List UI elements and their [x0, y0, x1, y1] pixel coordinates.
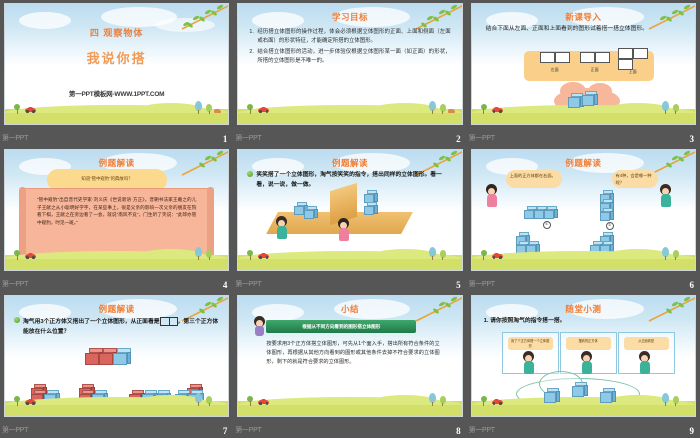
- slide-thumbnail-grid: 四 观察物体 我说你搭 第一PPT模板网-WWW.1PPT.COM 第一PPT …: [0, 0, 700, 438]
- cube-icon: [582, 91, 598, 106]
- quiz-panel-3: 从正面看是: [618, 332, 675, 374]
- tree-icon: [247, 104, 253, 113]
- dog-icon: [448, 109, 455, 113]
- teacher-avatar: [252, 316, 267, 336]
- footer-logo: 第一PPT: [469, 133, 495, 143]
- car-icon: [258, 399, 269, 405]
- tree-icon: [440, 250, 446, 260]
- slide-5[interactable]: 例题解读 笑笑搭了一个立体图形，淘气按笑笑的指令，搭出同样的立体图形。看一看，说…: [237, 149, 462, 271]
- task-text-a: 淘气用3个正方体又搭出了一个立体图形，从正: [23, 319, 142, 325]
- slide-title: 学习目标: [238, 11, 461, 23]
- story-text: “管中窥豹”出自晋代史学家·刘义庆《世说新语·方正》。晋朝书法家王羲之的儿子王献…: [37, 196, 196, 226]
- page-number: 6: [689, 280, 694, 290]
- list-item-text: 结合搭立体图形的活动，进一步体验仅根据立体图形某一面（如正面）的形状，所搭的立体…: [257, 48, 450, 65]
- car-icon: [258, 253, 269, 259]
- cube-icon: [364, 202, 378, 215]
- view-figure-left: 左面: [540, 52, 570, 74]
- footer-logo: 第一PPT: [235, 425, 261, 435]
- slide-title: 随堂小测: [472, 303, 695, 315]
- figure-2: ②: [600, 190, 620, 228]
- front-view-box: [160, 317, 178, 326]
- tree-icon: [440, 104, 446, 114]
- summary-banner-text: 根据从不同方向看到的图形搭立体图形: [266, 324, 416, 330]
- cube-icon: [304, 206, 318, 219]
- slide-title: 例题解读: [5, 303, 228, 315]
- car-icon: [492, 253, 503, 259]
- slide-4[interactable]: 例题解读 知道“管中窥豹”的典故吗？ “管中窥豹”出自晋代史学家·刘义庆《世说新…: [4, 149, 229, 271]
- slide-8[interactable]: 小结 根据从不同方向看到的图形搭立体图形 按要求用3个正方体搭立体图形，可先从1…: [237, 295, 462, 417]
- tree-icon: [440, 396, 446, 406]
- car-icon: [25, 253, 36, 259]
- list-item: 1. 经历搭立体图形的操作过程，体会必须根据立体图形的正面、上面和侧面（左面或右…: [249, 28, 450, 45]
- story-scroll: “管中窥豹”出自晋代史学家·刘义庆《世说新语·方正》。晋朝书法家王羲之的儿子王献…: [22, 188, 211, 258]
- slide-cell-8[interactable]: 小结 根据从不同方向看到的图形搭立体图形 按要求用3个正方体搭立体图形，可先从1…: [233, 292, 466, 438]
- tree-icon: [481, 250, 487, 259]
- slide-cell-5[interactable]: 例题解读 笑笑搭了一个立体图形，淘气按笑笑的指令，搭出同样的立体图形。看一看，说…: [233, 146, 466, 292]
- summary-banner: 根据从不同方向看到的图形搭立体图形: [266, 320, 416, 333]
- cube-icon: [600, 208, 614, 221]
- slide-cell-7[interactable]: 例题解读 淘气用3个正方体又搭出了一个立体图形，从正面看是，第三个正方体能放在什…: [0, 292, 233, 438]
- tree-icon: [195, 247, 202, 260]
- tree-icon: [429, 393, 436, 406]
- car-icon: [25, 399, 36, 405]
- figure-number: ②: [606, 222, 614, 230]
- cube-icon: [600, 388, 616, 403]
- footer-logo: 第一PPT: [235, 279, 261, 289]
- slide-cell-4[interactable]: 例题解读 知道“管中窥豹”的典故吗？ “管中窥豹”出自晋代史学家·刘义庆《世说新…: [0, 146, 233, 292]
- bullet-icon: [14, 317, 20, 323]
- panel-bubble: 摆着的正方体: [566, 337, 611, 350]
- list-item-number: 1.: [249, 28, 257, 45]
- task-text: 淘气用3个正方体又搭出了一个立体图形，从正面看是，第三个正方体能放在什么位置？: [23, 317, 218, 337]
- intro-text: 结合下面从左面、正面和上面看到的图形试着搭一搭立体图形。: [486, 25, 683, 35]
- quiz-panel-2: 摆着的正方体: [560, 332, 617, 374]
- car-icon: [258, 107, 269, 113]
- panel-bubble: 从正面看是: [624, 337, 669, 350]
- view-label: 正面: [580, 67, 610, 73]
- footer-logo: 第一PPT: [2, 279, 28, 289]
- footer-logo: 第一PPT: [235, 133, 261, 143]
- figure-1: ①: [524, 204, 570, 226]
- page-number: 1: [223, 134, 228, 144]
- slide-1[interactable]: 四 观察物体 我说你搭 第一PPT模板网-WWW.1PPT.COM: [4, 3, 229, 125]
- speech-bubble-left: 上面的正方体都在右面。: [506, 170, 562, 188]
- slide-2[interactable]: 学习目标 1. 经历搭立体图形的操作过程，体会必须根据立体图形的正面、上面和侧面…: [237, 3, 462, 125]
- slide-cell-2[interactable]: 学习目标 1. 经历搭立体图形的操作过程，体会必须根据立体图形的正面、上面和侧面…: [233, 0, 466, 146]
- speech-bubble-right-text: 有4种，会是哪一种呢？: [616, 173, 652, 185]
- tree-icon: [662, 101, 669, 114]
- slide-footer-3: 第一PPT 3: [467, 127, 700, 146]
- slide-cell-6[interactable]: 例题解读 上面的正方体都在右面。 有4种，会是哪一种呢？: [467, 146, 700, 292]
- slide-footer-4: 第一PPT 4: [0, 273, 233, 292]
- slide-footer-9: 第一PPT 9: [467, 419, 700, 438]
- slide-title: 小结: [238, 303, 461, 315]
- car-icon: [492, 399, 503, 405]
- task-text-b: 面看是: [142, 319, 159, 325]
- tree-icon: [481, 104, 487, 113]
- slide-footer-2: 第一PPT 2: [233, 127, 466, 146]
- slide-9[interactable]: 随堂小测 1. 请你按照淘气的指令搭一搭。 用了个正方体搭一个立体图形 摆着的正…: [471, 295, 696, 417]
- tree-icon: [206, 104, 212, 114]
- page-number: 3: [689, 134, 694, 144]
- template-url: 第一PPT模板网-WWW.1PPT.COM: [5, 88, 228, 98]
- list-item-number: 2.: [249, 48, 257, 65]
- figure-label: ①: [524, 221, 570, 229]
- page-number: 8: [456, 426, 461, 436]
- list-item-text: 经历搭立体图形的操作过程，体会必须根据立体图形的正面、上面和侧面（左面或右面）的…: [257, 28, 450, 45]
- page-number: 4: [223, 280, 228, 290]
- footer-logo: 第一PPT: [2, 425, 28, 435]
- tree-icon: [14, 250, 20, 259]
- quiz-text: 1. 请你按照淘气的指令搭一搭。: [484, 317, 685, 327]
- view-figure-front: 正面: [580, 52, 610, 74]
- tree-icon: [247, 396, 253, 405]
- tree-icon: [247, 250, 253, 259]
- tree-icon: [673, 250, 679, 260]
- objectives-list: 1. 经历搭立体图形的操作过程，体会必须根据立体图形的正面、上面和侧面（左面或右…: [249, 28, 450, 68]
- views-panel: 左面 正面 上面: [524, 51, 654, 81]
- list-item: 2. 结合搭立体图形的活动，进一步体验仅根据立体图形某一面（如正面）的形状，所搭…: [249, 48, 450, 65]
- scroll-edge-left: [19, 187, 26, 259]
- slide-footer-5: 第一PPT 5: [233, 273, 466, 292]
- chapter-title: 四 观察物体: [5, 26, 228, 39]
- slide-title: 例题解读: [472, 157, 695, 169]
- cube-icon: [572, 382, 588, 397]
- tree-icon: [481, 396, 487, 405]
- slide-title: 例题解读: [5, 157, 228, 169]
- tree-icon: [14, 104, 20, 113]
- dog-icon: [214, 109, 221, 113]
- slide-title: 我说你搭: [5, 48, 228, 67]
- tree-icon: [673, 396, 679, 406]
- page-number: 5: [456, 280, 461, 290]
- footer-logo: 第一PPT: [469, 425, 495, 435]
- question-bubble-text: 知道“管中窥豹”的典故吗？: [47, 176, 167, 182]
- slide-cell-9[interactable]: 随堂小测 1. 请你按照淘气的指令搭一搭。 用了个正方体搭一个立体图形 摆着的正…: [467, 292, 700, 438]
- panel-bubble: 用了个正方体搭一个立体图形: [508, 337, 553, 350]
- tree-icon: [429, 247, 436, 260]
- summary-body: 按要求用3个正方体搭立体图形，可先从1个面入手，搭出所有符合条件的立体图形，再根…: [266, 340, 439, 366]
- cube-icon: [544, 388, 560, 403]
- tree-icon: [195, 101, 202, 114]
- footer-logo: 第一PPT: [469, 279, 495, 289]
- view-label: 上面: [618, 69, 648, 75]
- tree-icon: [14, 396, 20, 405]
- slide-footer-6: 第一PPT 6: [467, 273, 700, 292]
- slide-3[interactable]: 新课导入 结合下面从左面、正面和上面看到的图形试着搭一搭立体图形。 左面 正面: [471, 3, 696, 125]
- tree-icon: [662, 393, 669, 406]
- page-number: 7: [223, 426, 228, 436]
- footer-logo: 第一PPT: [2, 133, 28, 143]
- speech-bubble-left-text: 上面的正方体都在右面。: [510, 173, 556, 178]
- view-label: 左面: [540, 67, 570, 73]
- cube-icon: [544, 206, 558, 219]
- slide-footer-7: 第一PPT 7: [0, 419, 233, 438]
- cube-group: [568, 91, 608, 109]
- page-number: 2: [456, 134, 461, 144]
- slide-title: 新课导入: [472, 11, 695, 23]
- slide-6[interactable]: 例题解读 上面的正方体都在右面。 有4种，会是哪一种呢？: [471, 149, 696, 271]
- figure-number: ①: [543, 221, 551, 229]
- car-icon: [25, 107, 36, 113]
- tree-icon: [673, 104, 679, 114]
- main-figure: [85, 348, 135, 374]
- speech-bubble-right: 有4种，会是哪一种呢？: [612, 170, 658, 188]
- car-icon: [492, 107, 503, 113]
- tree-icon: [206, 396, 212, 406]
- page-number: 9: [689, 426, 694, 436]
- tree-icon: [195, 393, 202, 406]
- view-figure-top: 上面: [618, 48, 648, 76]
- slide-7[interactable]: 例题解读 淘气用3个正方体又搭出了一个立体图形，从正面看是，第三个正方体能放在什…: [4, 295, 229, 417]
- slide-cell-1[interactable]: 四 观察物体 我说你搭 第一PPT模板网-WWW.1PPT.COM 第一PPT …: [0, 0, 233, 146]
- tree-icon: [206, 250, 212, 260]
- tree-icon: [662, 247, 669, 260]
- slide-cell-3[interactable]: 新课导入 结合下面从左面、正面和上面看到的图形试着搭一搭立体图形。 左面 正面: [467, 0, 700, 146]
- quiz-panel-1: 用了个正方体搭一个立体图形: [502, 332, 559, 374]
- tree-icon: [429, 101, 436, 114]
- slide-footer-8: 第一PPT 8: [233, 419, 466, 438]
- scroll-edge-right: [207, 187, 214, 259]
- figure-label: ②: [600, 222, 620, 230]
- slide-title: 例题解读: [238, 157, 461, 169]
- slide-footer-1: 第一PPT 1: [0, 127, 233, 146]
- cube-icon: [113, 348, 131, 365]
